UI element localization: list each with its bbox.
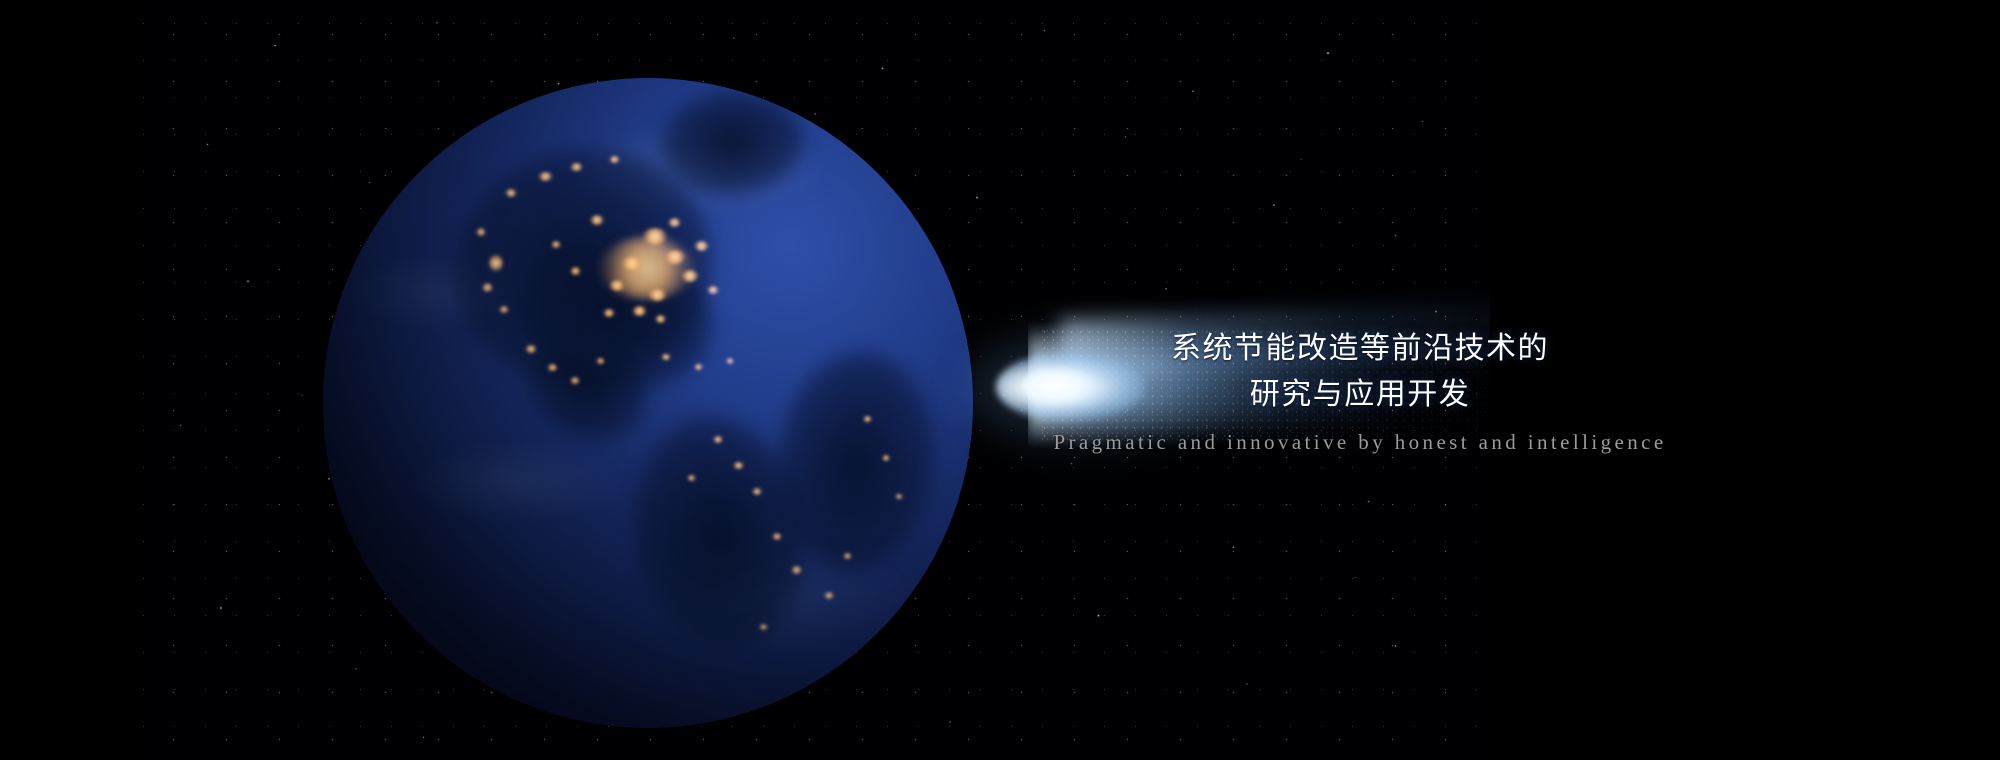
banner-text-block: 系统节能改造等前沿技术的 研究与应用开发 Pragmatic and innov…	[900, 326, 1820, 455]
atmosphere-limb	[322, 77, 974, 729]
hero-banner: 系统节能改造等前沿技术的 研究与应用开发 Pragmatic and innov…	[0, 0, 2000, 760]
headline-line-1: 系统节能改造等前沿技术的	[900, 326, 1820, 372]
earth-night-globe	[323, 78, 973, 728]
subheadline-tagline: Pragmatic and innovative by honest and i…	[900, 430, 1820, 455]
headline-line-2: 研究与应用开发	[900, 372, 1820, 418]
